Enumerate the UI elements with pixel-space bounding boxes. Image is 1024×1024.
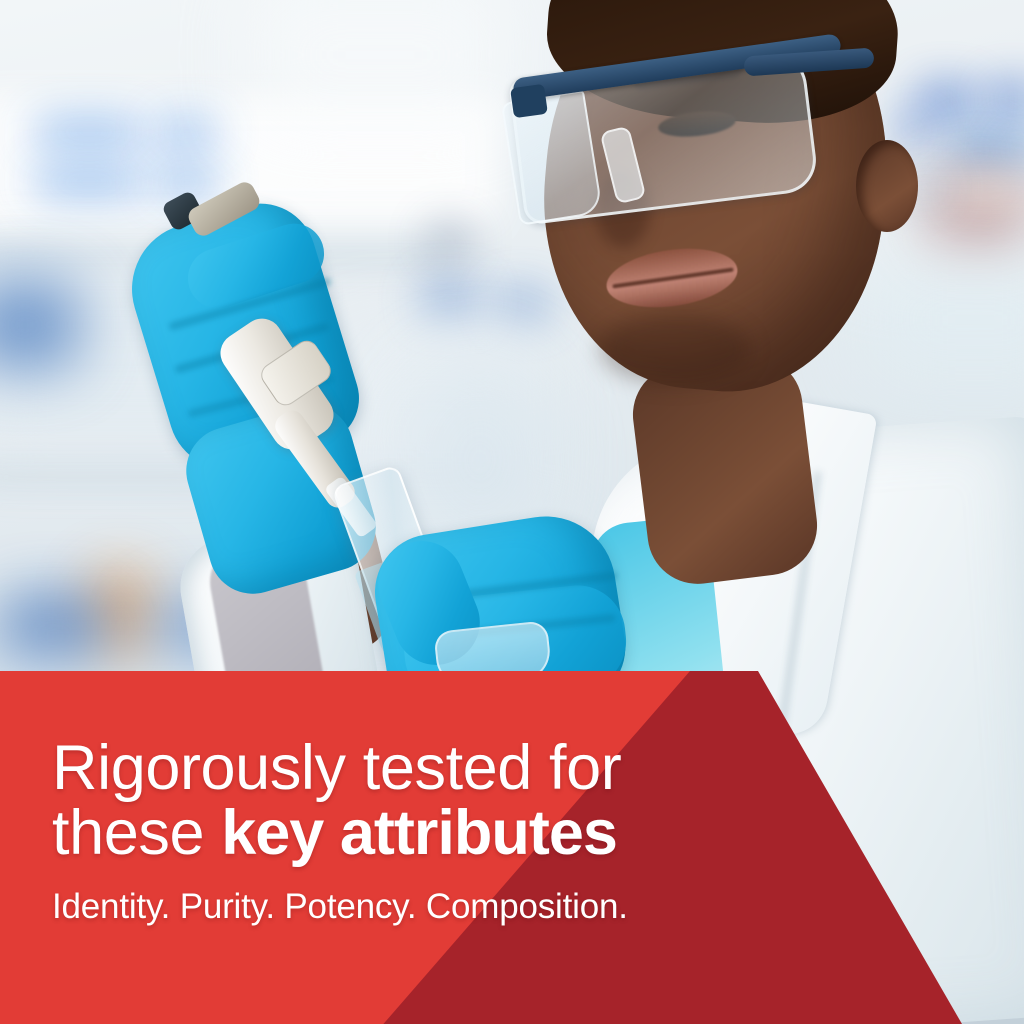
overhead-equipment (250, 0, 510, 130)
chin-shadow (600, 314, 750, 384)
promotional-banner-image: Rigorously tested for these key attribut… (0, 0, 1024, 1024)
blue-bin-left (0, 280, 80, 370)
blue-panel-center-2 (498, 292, 548, 318)
headline-line-2: these key attributes (52, 801, 772, 866)
shelf-label-blue-1 (34, 122, 144, 142)
headline-line-2-light: these (52, 798, 221, 868)
equipment-dark-detail (430, 228, 470, 254)
reagent-bottle-cap-2 (988, 86, 1024, 112)
headline-line-1: Rigorously tested for (52, 736, 772, 801)
shelf-label-blue-3 (34, 172, 144, 192)
headline: Rigorously tested for these key attribut… (52, 736, 772, 866)
goggles-hinge (510, 84, 548, 118)
blue-panel-center (420, 286, 480, 314)
reagent-bottle-cap-5 (1002, 136, 1024, 162)
reagent-bottle-cap-4 (952, 138, 1004, 164)
reagent-label-white (948, 178, 1024, 204)
headline-line-2-bold: key attributes (221, 798, 617, 868)
shelf-label-blue-2 (156, 122, 218, 142)
reagent-bottle-cap-3 (898, 118, 928, 142)
shelf-label-blue-4 (156, 172, 218, 192)
right-bench-surface (860, 250, 1024, 390)
banner-copy: Rigorously tested for these key attribut… (52, 736, 772, 927)
subheadline: Identity. Purity. Potency. Composition. (52, 887, 772, 927)
ear (856, 140, 918, 232)
reagent-bottle-cap-1 (918, 88, 976, 114)
